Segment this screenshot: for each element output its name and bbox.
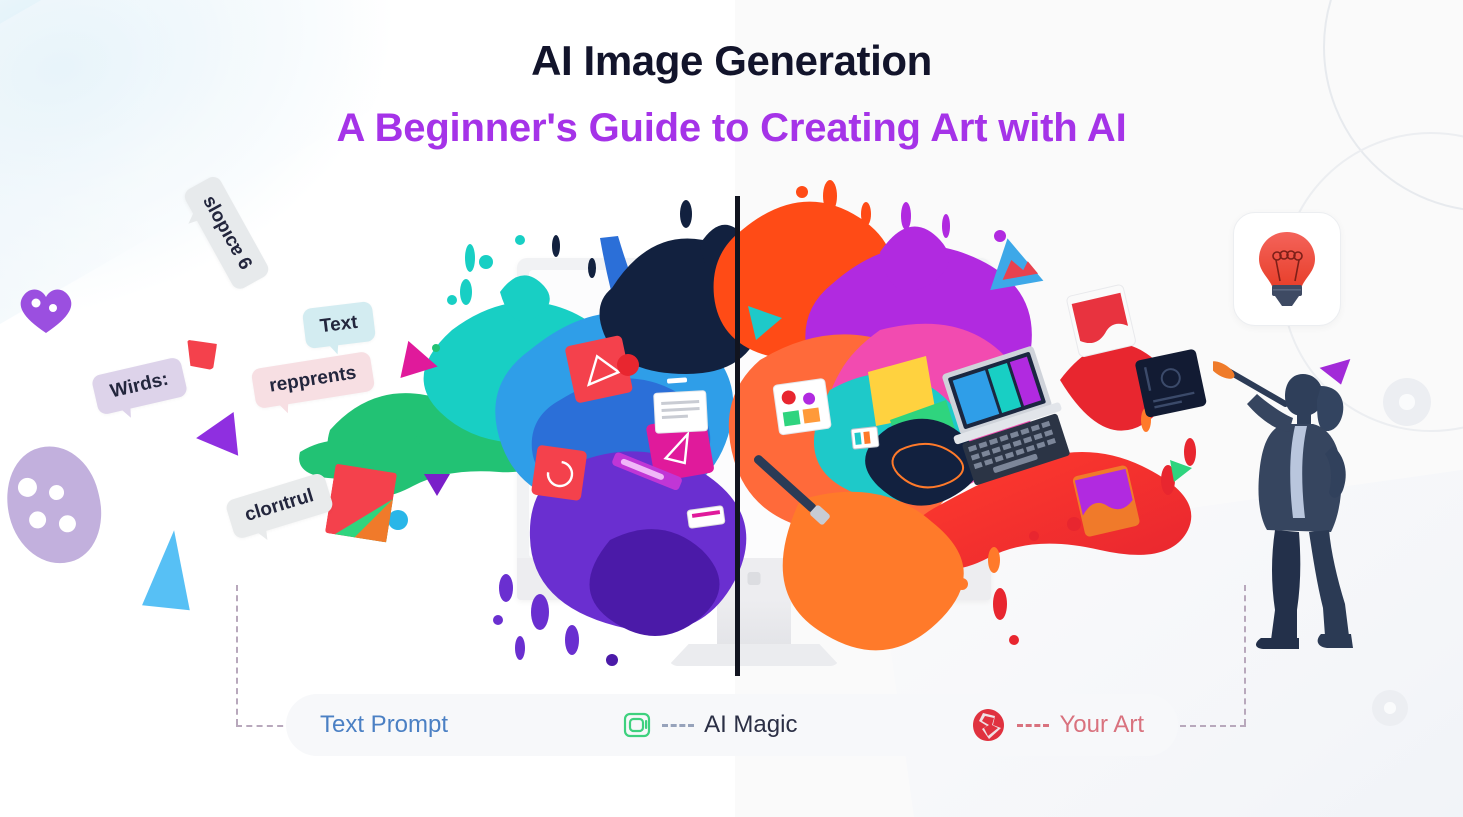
monitor-stand-base	[668, 644, 840, 666]
page-subtitle: A Beginner's Guide to Creating Art with …	[0, 107, 1463, 150]
red-green-card-shape	[325, 464, 397, 543]
monitor-logo	[748, 572, 761, 585]
desktop-monitor	[517, 258, 991, 672]
blue-dot-shape	[388, 510, 408, 530]
monitor-screen	[529, 270, 979, 558]
title-block: AI Image Generation A Beginner's Guide t…	[0, 38, 1463, 151]
monitor-icon	[622, 710, 652, 740]
heart-palette-icon	[16, 285, 76, 335]
legend-item-text-prompt[interactable]: Text Prompt	[320, 711, 448, 739]
prompt-bubble-4-label: repprents	[268, 362, 358, 396]
prompt-bubble-2-label: Text	[319, 312, 359, 337]
lightbulb-card	[1233, 212, 1341, 326]
prompt-bubble-2: Text	[302, 301, 376, 349]
legend-label-text-prompt: Text Prompt	[320, 711, 448, 739]
gem-icon	[971, 707, 1007, 743]
legend-label-your-art: Your Art	[1059, 711, 1144, 739]
monitor-body	[517, 258, 991, 600]
legend-item-ai-magic[interactable]: AI Magic	[622, 710, 797, 740]
legend-connector-ai-magic	[662, 724, 694, 727]
before-after-divider	[735, 196, 740, 676]
purple-triangle-shape	[194, 412, 238, 460]
legend-item-your-art[interactable]: Your Art	[971, 707, 1144, 743]
legend-label-ai-magic: AI Magic	[704, 711, 797, 739]
monitor-chin	[517, 558, 991, 600]
prompt-bubble-3-label: Wirds:	[108, 369, 170, 403]
small-purple-triangle	[424, 474, 450, 496]
legend-connector-your-art	[1017, 724, 1049, 727]
legend-row: Text Prompt AI Magic Your Art	[286, 694, 1178, 756]
artist-silhouette	[1213, 352, 1393, 652]
blue-triangle-shape	[142, 528, 198, 611]
page-title: AI Image Generation	[0, 38, 1463, 83]
lightbulb-icon	[1254, 229, 1320, 309]
infographic-canvas: AI Image Generation A Beginner's Guide t…	[0, 0, 1463, 817]
